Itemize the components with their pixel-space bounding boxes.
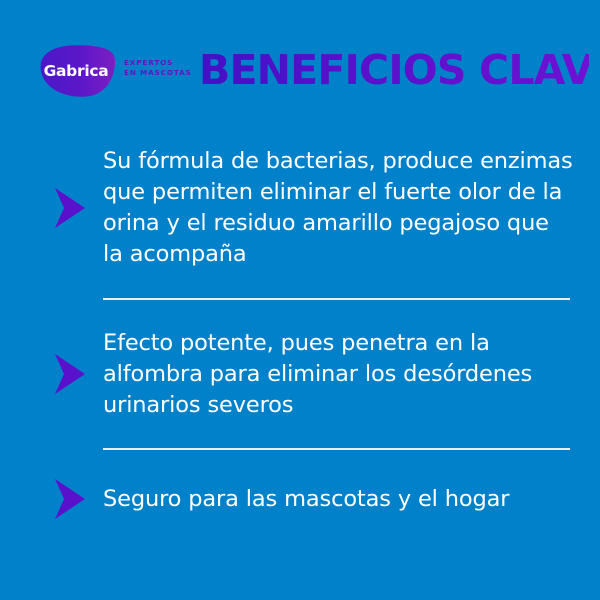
tagline-line-1: EXPERTOS: [124, 58, 173, 67]
spacer-4: [0, 450, 600, 466]
spacer-1: [0, 282, 600, 298]
header: Gabrica EXPERTOS EN MASCOTAS BENEFICIOS …: [0, 0, 600, 120]
spacer-3: [0, 432, 600, 448]
brand-lockup: Gabrica EXPERTOS EN MASCOTAS: [34, 44, 184, 98]
benefit-item-3: Seguro para las mascotas y el hogar: [0, 466, 600, 532]
tagline-line-2: EN MASCOTAS: [124, 68, 208, 78]
benefit-text-3: Seguro para las mascotas y el hogar: [103, 484, 573, 515]
chevron-right-icon: [52, 352, 86, 396]
benefits-list: Su fórmula de bacterias, produce enzimas…: [0, 134, 600, 532]
benefit-item-1: Su fórmula de bacterias, produce enzimas…: [0, 134, 600, 282]
promo-slide: Gabrica EXPERTOS EN MASCOTAS BENEFICIOS …: [0, 0, 600, 600]
benefit-text-1: Su fórmula de bacterias, produce enzimas…: [103, 146, 573, 270]
page-title: BENEFICIOS CLAVE: [199, 46, 589, 94]
benefit-item-2: Efecto potente, pues penetra en la alfom…: [0, 316, 600, 432]
benefit-text-2: Efecto potente, pues penetra en la alfom…: [103, 328, 573, 421]
chevron-right-icon: [52, 186, 86, 230]
brand-tagline: EXPERTOS EN MASCOTAS: [124, 58, 208, 78]
spacer-2: [0, 300, 600, 316]
chevron-right-icon: [52, 477, 86, 521]
gabrica-blob-logo-icon: [34, 44, 118, 98]
